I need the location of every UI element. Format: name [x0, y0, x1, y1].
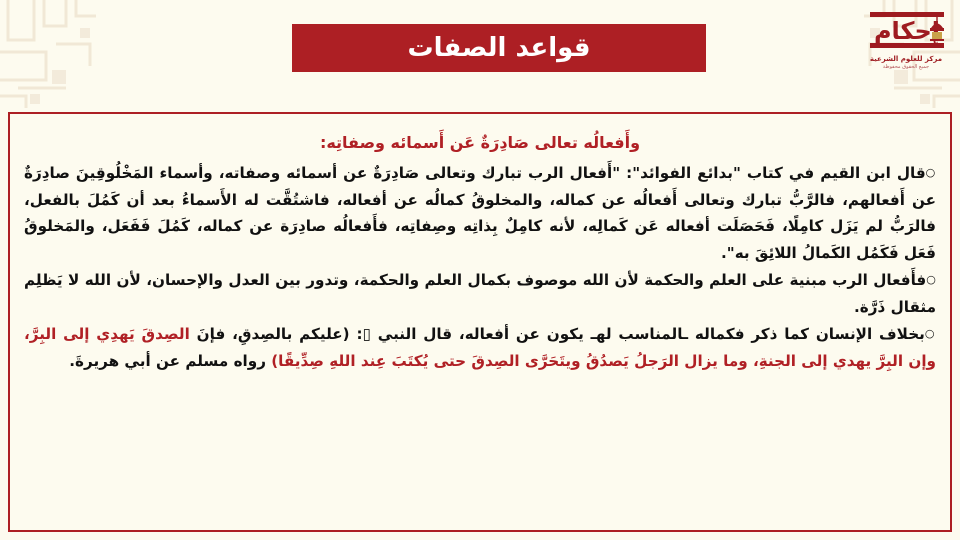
bullet-marker: ○: [926, 273, 936, 286]
list-item: ○فأَفعال الرب مبنية على العلم والحكمة لأ…: [24, 267, 936, 320]
hadith-intro-text: بخلاف الإنسان كما ذكر فكماله ـالمناسب له…: [371, 325, 925, 343]
prophet-salutation-icon: ▯: [363, 325, 371, 343]
content-frame: وأَفعالُه تعالى صَادِرَةٌ عَن أَسمائه وص…: [8, 112, 952, 532]
list-item: ○قال ابن القيم في كتاب "بدائع الفوائد": …: [24, 160, 936, 266]
logo-subtitle: مركز للعلوم الشرعية: [860, 55, 952, 64]
list-item-hadith: ○بخلاف الإنسان كما ذكر فكماله ـالمناسب ل…: [24, 321, 936, 374]
list-item-text: فأَفعال الرب مبنية على العلم والحكمة لأن…: [24, 271, 936, 316]
mosque-dome-icon: [928, 16, 946, 42]
slide-header: قواعد الصفات إحكام مركز للعلوم الشرعية ج…: [0, 0, 960, 108]
bullet-marker: ○: [925, 327, 936, 340]
logo-mark: إحكام: [864, 8, 948, 54]
bullet-marker: ○: [926, 166, 936, 179]
title-banner: قواعد الصفات: [292, 24, 706, 72]
hadith-source-text: رواه مسلم عن أبي هريرةَ.: [69, 352, 271, 370]
content-heading: وأَفعالُه تعالى صَادِرَةٌ عَن أَسمائه وص…: [24, 128, 936, 158]
content-body: ○قال ابن القيم في كتاب "بدائع الفوائد": …: [24, 160, 936, 374]
page-title: قواعد الصفات: [408, 35, 591, 61]
brand-logo: إحكام مركز للعلوم الشرعية جميع الحقوق مح…: [860, 8, 952, 76]
hadith-lead-text: : (عليكم بالصِدقِ، فإنَ: [197, 325, 363, 343]
logo-subtitle-secondary: جميع الحقوق محفوظة: [860, 64, 952, 71]
list-item-text: قال ابن القيم في كتاب "بدائع الفوائد": "…: [24, 164, 936, 262]
